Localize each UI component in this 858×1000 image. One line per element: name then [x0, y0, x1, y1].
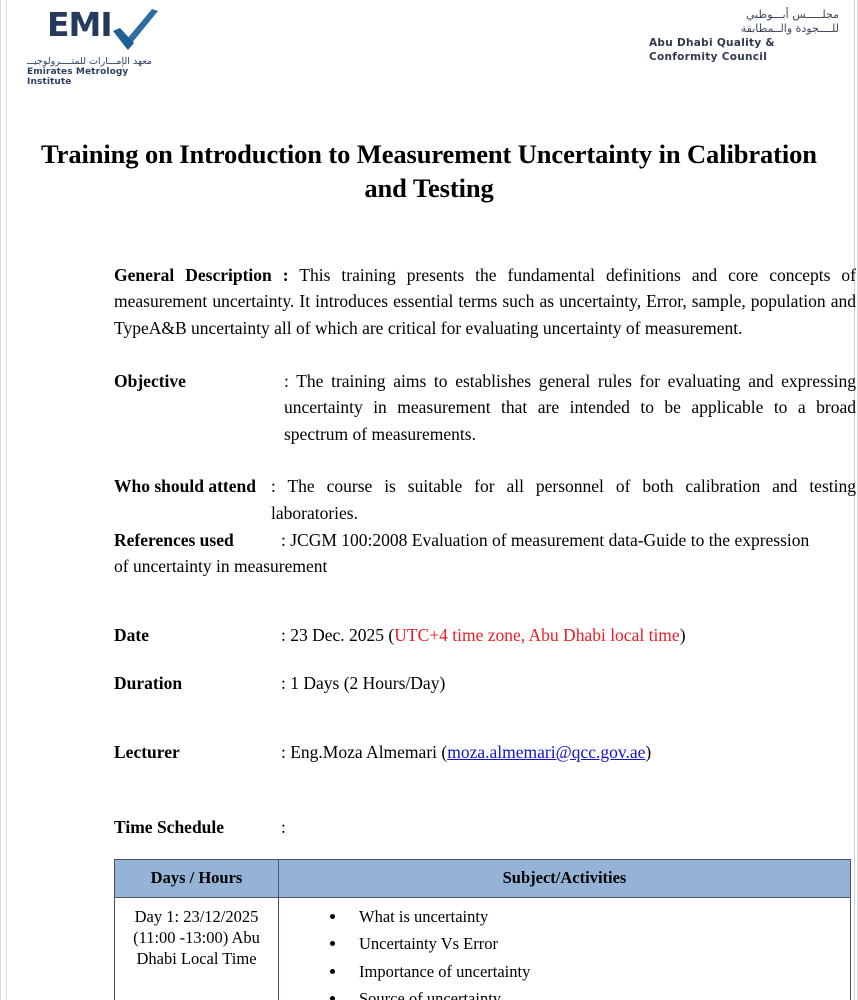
- who-should-attend-label: Who should attend: [114, 473, 271, 500]
- date-block: Date : 23 Dec. 2025 (UTC+4 time zone, Ab…: [114, 622, 856, 649]
- emi-logo-mark: EMI: [47, 6, 197, 54]
- objective-label: Objective: [114, 368, 284, 395]
- date-timezone-note: UTC+4 time zone, Abu Dhabi local time: [394, 625, 679, 645]
- lecturer-value-suffix: ): [645, 742, 651, 762]
- list-item: Source of uncertainty: [347, 986, 850, 1000]
- adqcc-english-line1: Abu Dhabi Quality &: [649, 36, 839, 50]
- references-used-text-line2: of uncertainty in measurement: [114, 553, 856, 580]
- date-value-prefix: : 23 Dec. 2025 (: [281, 625, 394, 645]
- objective-block: Objective : The training aims to establi…: [114, 368, 856, 448]
- schedule-table: Days / Hours Subject/Activities Day 1: 2…: [114, 859, 851, 1000]
- document-body: General Description : This training pres…: [114, 262, 856, 840]
- references-used-block: References used : JCGM 100:2008 Evaluati…: [114, 527, 856, 580]
- emi-logo-english: Emirates Metrology Institute: [27, 67, 167, 87]
- list-item: Importance of uncertainty: [347, 959, 850, 984]
- time-schedule-block: Time Schedule :: [114, 814, 856, 841]
- time-schedule-label: Time Schedule: [114, 814, 281, 841]
- cell-days-hours: Day 1: 23/12/2025 (11:00 -13:00) Abu Dha…: [115, 898, 279, 1000]
- who-should-attend-block: Who should attend : The course is suitab…: [114, 473, 856, 526]
- list-item: What is uncertainty: [347, 904, 850, 929]
- check-mark-icon: [110, 9, 162, 53]
- duration-block: Duration : 1 Days (2 Hours/Day): [114, 670, 856, 697]
- adqcc-arabic-line1: مجلـــــس أبـــوظبي: [649, 8, 839, 22]
- duration-value: : 1 Days (2 Hours/Day): [281, 670, 856, 697]
- general-description-block: General Description : This training pres…: [114, 262, 856, 342]
- who-should-attend-text: : The course is suitable for all personn…: [271, 473, 856, 526]
- references-used-label: References used: [114, 527, 281, 554]
- duration-label: Duration: [114, 670, 281, 697]
- list-item: Uncertainty Vs Error: [347, 931, 850, 956]
- objective-text: : The training aims to establishes gener…: [284, 368, 856, 448]
- schedule-table-body: Day 1: 23/12/2025 (11:00 -13:00) Abu Dha…: [115, 898, 851, 1000]
- references-used-line1: References used : JCGM 100:2008 Evaluati…: [114, 527, 856, 554]
- date-value-suffix: ): [680, 625, 686, 645]
- column-header-subject-activities: Subject/Activities: [279, 860, 851, 898]
- adqcc-english-line2: Conformity Council: [649, 50, 839, 64]
- emi-logo-letters: EMI: [47, 8, 112, 41]
- document-header: EMI معهد الإمـــارات للمتــــرولوجيـــا …: [1, 0, 857, 100]
- activities-list: What is uncertainty Uncertainty Vs Error…: [279, 904, 850, 1000]
- adqcc-arabic-line2: للــــجودة والــمطابقة: [649, 22, 839, 36]
- page-title: Training on Introduction to Measurement …: [21, 138, 837, 206]
- emi-logo: EMI معهد الإمـــارات للمتــــرولوجيـــا …: [25, 6, 225, 87]
- page-border-left: [6, 0, 7, 1000]
- general-description-label: General Description :: [114, 265, 289, 285]
- document-page: EMI معهد الإمـــارات للمتــــرولوجيـــا …: [0, 0, 858, 1000]
- lecturer-name: : Eng.Moza Almemari (: [281, 742, 447, 762]
- lecturer-email-link[interactable]: moza.almemari@qcc.gov.ae: [447, 742, 645, 762]
- time-schedule-colon: :: [281, 814, 856, 841]
- lecturer-block: Lecturer : Eng.Moza Almemari (moza.almem…: [114, 739, 856, 766]
- table-header-row: Days / Hours Subject/Activities: [115, 860, 851, 898]
- emi-logo-arabic: معهد الإمـــارات للمتــــرولوجيـــا: [27, 56, 152, 67]
- lecturer-value: : Eng.Moza Almemari (moza.almemari@qcc.g…: [281, 739, 856, 766]
- references-used-text-line1: : JCGM 100:2008 Evaluation of measuremen…: [281, 527, 809, 554]
- lecturer-label: Lecturer: [114, 739, 281, 766]
- adqcc-logo: مجلـــــس أبـــوظبي للــــجودة والــمطاب…: [649, 8, 839, 64]
- date-label: Date: [114, 622, 281, 649]
- schedule-table-head: Days / Hours Subject/Activities: [115, 860, 851, 898]
- column-header-days-hours: Days / Hours: [115, 860, 279, 898]
- date-value: : 23 Dec. 2025 (UTC+4 time zone, Abu Dha…: [281, 622, 856, 649]
- table-row: Day 1: 23/12/2025 (11:00 -13:00) Abu Dha…: [115, 898, 851, 1000]
- cell-subject-activities: What is uncertainty Uncertainty Vs Error…: [279, 898, 851, 1000]
